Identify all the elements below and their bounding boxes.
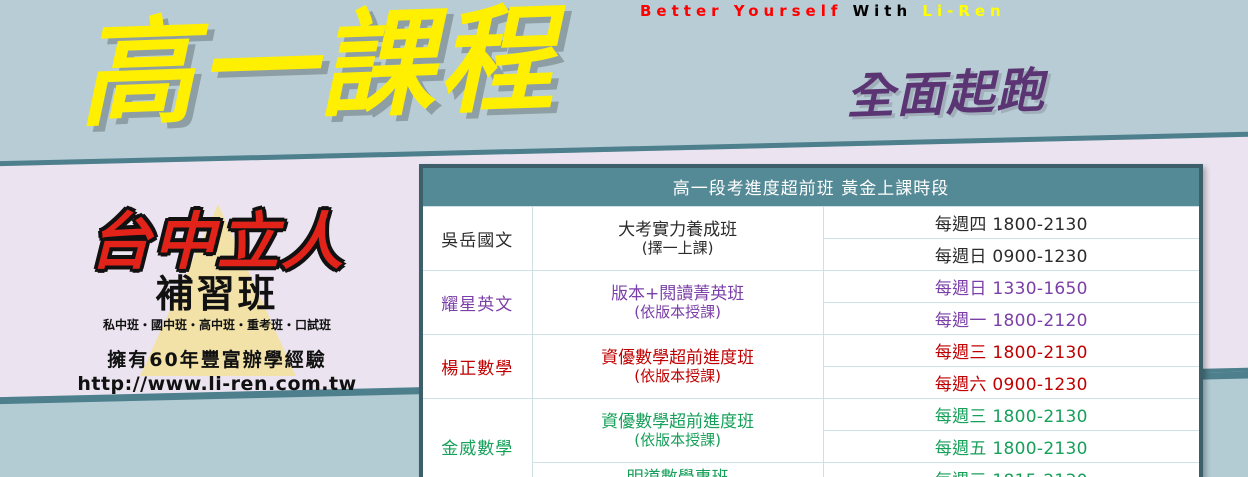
schedule-time-cell: 每週六 0900-1230 [823, 367, 1199, 399]
schedule-header-row: 高一段考進度超前班 黃金上課時段 [423, 168, 1199, 207]
schedule-time-cell: 每週四 1800-2130 [823, 207, 1199, 239]
schedule-course-name: 版本+閱讀菁英班 [611, 284, 744, 304]
schedule-time-cell: 每週三 1800-2130 [823, 335, 1199, 367]
table-row: 耀星英文版本+閱讀菁英班(依版本授課)每週日 1330-1650 [423, 271, 1199, 303]
tagline-part-liren: Li-Ren [922, 2, 1005, 20]
schedule-course-name: 明道數學專班 [627, 468, 729, 477]
schedule-course-cell: 大考實力養成班(擇一上課) [532, 207, 823, 271]
schedule-course-name: 大考實力養成班 [618, 220, 737, 240]
schedule-header-title: 高一段考進度超前班 黃金上課時段 [423, 168, 1199, 207]
tagline-part-better: Better Yourself [640, 2, 842, 20]
brand-logo: 台中立人 補習班 私中班・國中班・高中班・重考班・口試班 擁有60年豐富辦學經驗… [52, 212, 382, 395]
schedule-teacher-cell: 楊正數學 [423, 335, 532, 399]
schedule-time-cell: 每週三 1815-2130 [823, 463, 1199, 477]
schedule-table: 高一段考進度超前班 黃金上課時段 吳岳國文大考實力養成班(擇一上課)每週四 18… [423, 168, 1199, 477]
schedule-time-cell: 每週日 0900-1230 [823, 239, 1199, 271]
schedule-course-cell: 資優數學超前進度班(依版本授課) [532, 399, 823, 463]
logo-experience-line: 擁有60年豐富辦學經驗 [52, 345, 382, 372]
schedule-time-cell: 每週三 1800-2130 [823, 399, 1199, 431]
page-title: 高一課程 [76, 2, 560, 135]
schedule-course-cell: 資優數學超前進度班(依版本授課) [532, 335, 823, 399]
page-subtitle: 全面起跑 [845, 67, 1047, 122]
logo-class-streams: 私中班・國中班・高中班・重考班・口試班 [52, 316, 382, 333]
schedule-course-name: 資優數學超前進度班 [601, 412, 754, 432]
schedule-course-note: (依版本授課) [537, 304, 819, 321]
schedule-course-cell: 明道數學專班 [532, 463, 823, 477]
schedule-course-note: (依版本授課) [537, 368, 819, 385]
logo-name: 台中立人 [52, 212, 382, 273]
schedule-table-container: 高一段考進度超前班 黃金上課時段 吳岳國文大考實力養成班(擇一上課)每週四 18… [419, 164, 1203, 477]
schedule-teacher-cell: 耀星英文 [423, 271, 532, 335]
schedule-body: 吳岳國文大考實力養成班(擇一上課)每週四 1800-2130每週日 0900-1… [423, 207, 1199, 477]
schedule-teacher-cell: 金威數學 [423, 399, 532, 477]
schedule-course-cell: 版本+閱讀菁英班(依版本授課) [532, 271, 823, 335]
table-row: 金威數學資優數學超前進度班(依版本授課)每週三 1800-2130 [423, 399, 1199, 431]
table-row: 明道數學專班每週三 1815-2130 [423, 463, 1199, 477]
table-row: 吳岳國文大考實力養成班(擇一上課)每週四 1800-2130 [423, 207, 1199, 239]
tagline-part-with: With [853, 2, 913, 20]
schedule-course-note: (擇一上課) [537, 240, 819, 257]
schedule-time-cell: 每週日 1330-1650 [823, 271, 1199, 303]
brand-tagline: Better Yourself With Li-Ren [640, 2, 1006, 20]
logo-subname: 補習班 [52, 275, 382, 313]
table-row: 楊正數學資優數學超前進度班(依版本授課)每週三 1800-2130 [423, 335, 1199, 367]
schedule-teacher-cell: 吳岳國文 [423, 207, 532, 271]
poster-canvas: Better Yourself With Li-Ren 高一課程 全面起跑 台中… [0, 0, 1248, 477]
schedule-time-cell: 每週一 1800-2120 [823, 303, 1199, 335]
logo-website-url[interactable]: http://www.li-ren.com.tw [52, 373, 382, 395]
schedule-course-name: 資優數學超前進度班 [601, 348, 754, 368]
schedule-course-note: (依版本授課) [537, 432, 819, 449]
schedule-time-cell: 每週五 1800-2130 [823, 431, 1199, 463]
